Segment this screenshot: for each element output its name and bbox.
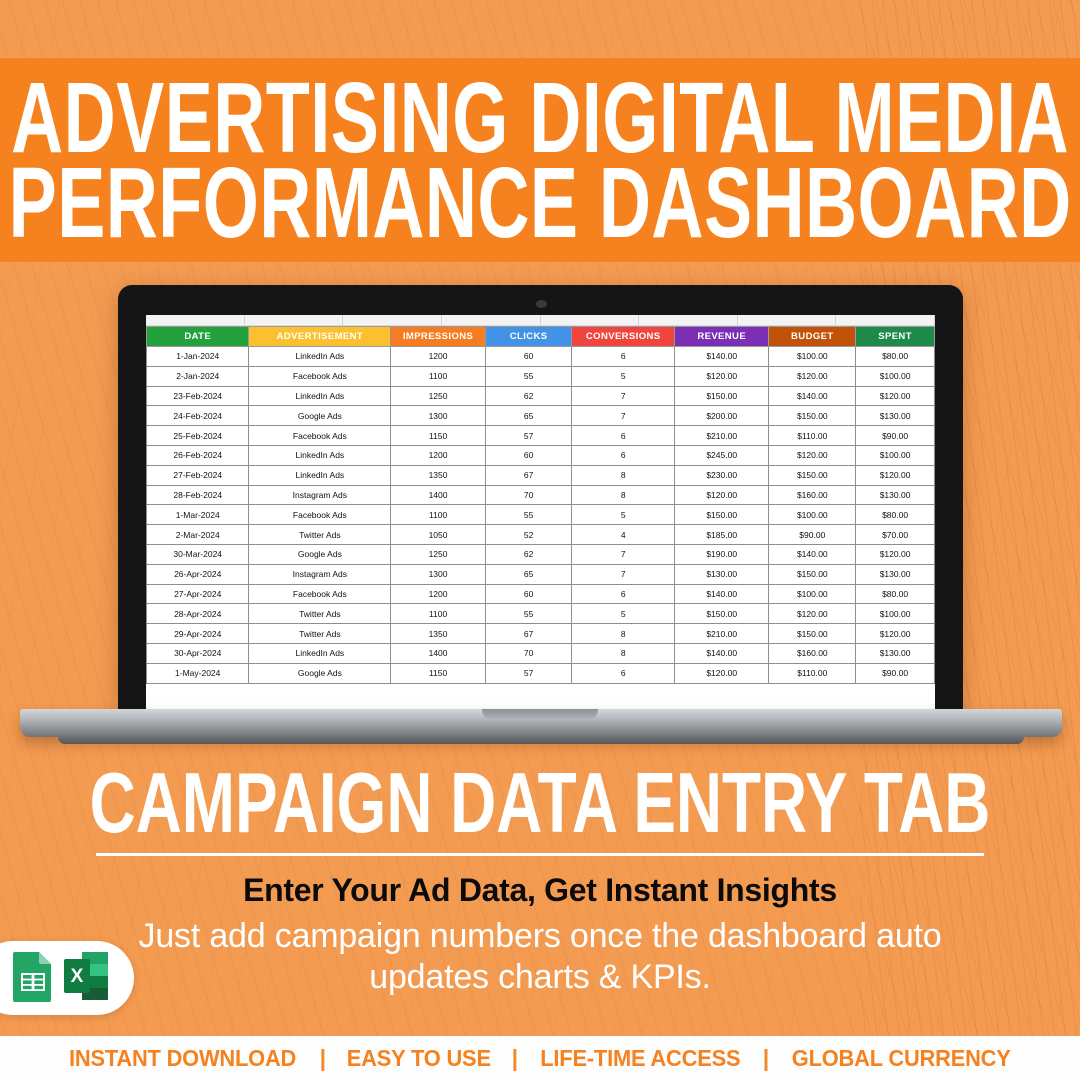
table-row[interactable]: 2-Jan-2024Facebook Ads1100555$120.00$120… [147,366,935,386]
table-cell[interactable]: 67 [485,624,572,644]
table-cell[interactable]: 6 [572,347,674,367]
table-cell[interactable]: $160.00 [769,643,856,663]
footer-item-global-currency: GLOBAL CURRENCY [792,1045,1011,1072]
table-cell[interactable]: 7 [572,406,674,426]
table-cell[interactable]: LinkedIn Ads [249,386,391,406]
google-sheets-icon [11,950,55,1007]
table-cell[interactable]: $120.00 [856,624,935,644]
sheet-col-g [738,315,837,325]
table-header-row: DATEADVERTISEMENTIMPRESSIONSCLICKSCONVER… [147,327,935,347]
table-cell[interactable]: LinkedIn Ads [249,643,391,663]
table-cell[interactable]: 1400 [391,485,486,505]
table-cell[interactable]: 67 [485,465,572,485]
footer-item-easy-to-use: EASY TO USE [347,1045,491,1072]
table-cell[interactable]: $100.00 [856,445,935,465]
laptop-foot [58,737,1024,744]
table-header-impressions[interactable]: IMPRESSIONS [391,327,486,347]
table-cell[interactable]: 55 [485,366,572,386]
table-cell[interactable]: $245.00 [674,445,769,465]
webcam-icon [536,300,547,308]
table-cell[interactable]: $150.00 [769,406,856,426]
table-cell[interactable]: 1300 [391,406,486,426]
table-cell[interactable]: Facebook Ads [249,366,391,386]
sheet-col-f [639,315,738,325]
table-cell[interactable]: $100.00 [856,366,935,386]
table-cell[interactable]: 26-Feb-2024 [147,445,249,465]
table-cell[interactable]: 1100 [391,366,486,386]
table-cell[interactable]: $120.00 [856,465,935,485]
svg-text:X: X [71,966,84,987]
table-cell[interactable]: 62 [485,544,572,564]
table-cell[interactable]: 23-Feb-2024 [147,386,249,406]
table-cell[interactable]: 65 [485,564,572,584]
table-cell[interactable]: 1200 [391,584,486,604]
table-cell[interactable]: 8 [572,465,674,485]
table-row[interactable]: 1-Mar-2024Facebook Ads1100555$150.00$100… [147,505,935,525]
table-row[interactable]: 28-Apr-2024Twitter Ads1100555$150.00$120… [147,604,935,624]
table-cell[interactable]: $90.00 [856,426,935,446]
table-header-spent[interactable]: SPENT [856,327,935,347]
table-body[interactable]: 1-Jan-2024LinkedIn Ads1200606$140.00$100… [147,347,935,684]
table-cell[interactable]: 62 [485,386,572,406]
table-cell[interactable]: $80.00 [856,584,935,604]
table-cell[interactable]: $140.00 [674,347,769,367]
table-row[interactable]: 28-Feb-2024Instagram Ads1400708$120.00$1… [147,485,935,505]
table-cell[interactable]: 6 [572,426,674,446]
table-row[interactable]: 1-May-2024Google Ads1150576$120.00$110.0… [147,663,935,683]
table-cell[interactable]: 1250 [391,544,486,564]
table-cell[interactable]: 30-Apr-2024 [147,643,249,663]
table-row[interactable]: 27-Feb-2024LinkedIn Ads1350678$230.00$15… [147,465,935,485]
table-cell[interactable]: $110.00 [769,426,856,446]
table-cell[interactable]: 8 [572,485,674,505]
table-cell[interactable]: $150.00 [769,564,856,584]
table-cell[interactable]: LinkedIn Ads [249,465,391,485]
table-cell[interactable]: Facebook Ads [249,584,391,604]
table-cell[interactable]: 1150 [391,663,486,683]
table-cell[interactable]: 1300 [391,564,486,584]
table-row[interactable]: 30-Apr-2024LinkedIn Ads1400708$140.00$16… [147,643,935,663]
table-cell[interactable]: 24-Feb-2024 [147,406,249,426]
table-cell[interactable]: 4 [572,525,674,545]
table-row[interactable]: 26-Apr-2024Instagram Ads1300657$130.00$1… [147,564,935,584]
table-cell[interactable]: $150.00 [674,604,769,624]
table-cell[interactable]: $150.00 [769,465,856,485]
table-cell[interactable]: 25-Feb-2024 [147,426,249,446]
table-cell[interactable]: Google Ads [249,544,391,564]
table-header-advertisement[interactable]: ADVERTISEMENT [249,327,391,347]
body-copy-line-2: updates charts & KPIs. [64,957,1016,998]
table-cell[interactable]: $100.00 [856,604,935,624]
table-cell[interactable]: 6 [572,584,674,604]
table-cell[interactable]: 1-Mar-2024 [147,505,249,525]
table-cell[interactable]: Twitter Ads [249,525,391,545]
footer-separator: | [320,1045,326,1072]
table-cell[interactable]: 70 [485,643,572,663]
table-cell[interactable]: Instagram Ads [249,564,391,584]
sheet-col-e [541,315,640,325]
sheet-col-h [836,315,935,325]
spreadsheet-viewport: DATEADVERTISEMENTIMPRESSIONSCLICKSCONVER… [146,315,935,710]
table-row[interactable]: 29-Apr-2024Twitter Ads1350678$210.00$150… [147,624,935,644]
table-cell[interactable]: 55 [485,604,572,624]
table-cell[interactable]: Twitter Ads [249,604,391,624]
table-header-revenue[interactable]: REVENUE [674,327,769,347]
table-cell[interactable]: 1050 [391,525,486,545]
spreadsheet-column-header-strip[interactable] [146,315,935,326]
table-cell[interactable]: 5 [572,366,674,386]
table-row[interactable]: 26-Feb-2024LinkedIn Ads1200606$245.00$12… [147,445,935,465]
campaign-data-table[interactable]: DATEADVERTISEMENTIMPRESSIONSCLICKSCONVER… [146,326,935,684]
table-cell[interactable]: $90.00 [769,525,856,545]
table-header-date[interactable]: DATE [147,327,249,347]
table-cell[interactable]: 1400 [391,643,486,663]
body-copy-line-1: Just add campaign numbers once the dashb… [64,916,1016,957]
table-cell[interactable]: 1150 [391,426,486,446]
laptop-notch [482,709,598,719]
table-row[interactable]: 2-Mar-2024Twitter Ads1050524$185.00$90.0… [147,525,935,545]
sheet-col-a [146,315,245,325]
table-cell[interactable]: $120.00 [769,366,856,386]
table-cell[interactable]: Twitter Ads [249,624,391,644]
table-cell[interactable]: $140.00 [769,386,856,406]
lower-copy-block: CAMPAIGN DATA ENTRY TAB Enter Your Ad Da… [0,766,1080,999]
table-cell[interactable]: Google Ads [249,406,391,426]
compatibility-logo-pill: X [0,941,134,1015]
table-cell[interactable]: $210.00 [674,624,769,644]
table-cell[interactable]: $230.00 [674,465,769,485]
table-row[interactable]: 24-Feb-2024Google Ads1300657$200.00$150.… [147,406,935,426]
table-cell[interactable]: LinkedIn Ads [249,445,391,465]
table-cell[interactable]: $130.00 [856,564,935,584]
footer-separator: | [763,1045,769,1072]
hero-title-line-2: PERFORMANCE DASHBOARD [9,154,1072,251]
table-cell[interactable]: $120.00 [674,663,769,683]
table-cell[interactable]: $200.00 [674,406,769,426]
table-cell[interactable]: 1100 [391,604,486,624]
table-cell[interactable]: 60 [485,445,572,465]
table-cell[interactable]: 1350 [391,624,486,644]
table-cell[interactable]: 7 [572,544,674,564]
table-cell[interactable]: $160.00 [769,485,856,505]
table-cell[interactable]: 8 [572,643,674,663]
table-cell[interactable]: Google Ads [249,663,391,683]
table-cell[interactable]: Facebook Ads [249,505,391,525]
table-cell[interactable]: $130.00 [856,643,935,663]
table-cell[interactable]: $80.00 [856,347,935,367]
table-cell[interactable]: 27-Apr-2024 [147,584,249,604]
table-cell[interactable]: 28-Feb-2024 [147,485,249,505]
table-cell[interactable]: 7 [572,386,674,406]
microsoft-excel-icon: X [62,950,110,1007]
footer-item-instant-download: INSTANT DOWNLOAD [69,1045,296,1072]
table-cell[interactable]: $120.00 [769,445,856,465]
table-cell[interactable]: LinkedIn Ads [249,347,391,367]
table-cell[interactable]: 1200 [391,347,486,367]
table-cell[interactable]: $100.00 [769,584,856,604]
table-cell[interactable]: 1-May-2024 [147,663,249,683]
table-cell[interactable]: Instagram Ads [249,485,391,505]
table-cell[interactable]: $70.00 [856,525,935,545]
section-body-copy: Just add campaign numbers once the dashb… [0,916,1080,999]
table-row[interactable]: 27-Apr-2024Facebook Ads1200606$140.00$10… [147,584,935,604]
table-cell[interactable]: 1350 [391,465,486,485]
table-cell[interactable]: $120.00 [674,366,769,386]
section-subhead: Enter Your Ad Data, Get Instant Insights [0,872,1080,909]
footer-feature-bar: INSTANT DOWNLOAD|EASY TO USE|LIFE-TIME A… [0,1036,1080,1080]
table-cell[interactable]: $120.00 [856,544,935,564]
table-cell[interactable]: 26-Apr-2024 [147,564,249,584]
table-cell[interactable]: 6 [572,663,674,683]
table-cell[interactable]: $120.00 [674,485,769,505]
table-cell[interactable]: 65 [485,406,572,426]
table-cell[interactable]: $190.00 [674,544,769,564]
table-cell[interactable]: 52 [485,525,572,545]
table-cell[interactable]: $140.00 [674,584,769,604]
table-row[interactable]: 25-Feb-2024Facebook Ads1150576$210.00$11… [147,426,935,446]
table-cell[interactable]: 2-Jan-2024 [147,366,249,386]
table-header-conversions[interactable]: CONVERSIONS [572,327,674,347]
table-cell[interactable]: 5 [572,505,674,525]
table-cell[interactable]: $130.00 [856,485,935,505]
table-cell[interactable]: 1200 [391,445,486,465]
footer-item-life-time-access: LIFE-TIME ACCESS [540,1045,740,1072]
table-cell[interactable]: $150.00 [674,505,769,525]
section-headline: CAMPAIGN DATA ENTRY TAB [86,761,993,846]
hero-title-band: ADVERTISING DIGITAL MEDIA PERFORMANCE DA… [0,58,1080,262]
table-cell[interactable]: $140.00 [769,544,856,564]
table-cell[interactable]: 57 [485,663,572,683]
footer-separator: | [512,1045,518,1072]
table-cell[interactable]: $120.00 [769,604,856,624]
table-cell[interactable]: 28-Apr-2024 [147,604,249,624]
table-cell[interactable]: 60 [485,584,572,604]
table-cell[interactable]: $110.00 [769,663,856,683]
table-cell[interactable]: $140.00 [674,643,769,663]
table-cell[interactable]: 70 [485,485,572,505]
table-cell[interactable]: 5 [572,604,674,624]
table-cell[interactable]: 6 [572,445,674,465]
table-cell[interactable]: $150.00 [769,624,856,644]
table-cell[interactable]: 29-Apr-2024 [147,624,249,644]
table-cell[interactable]: 55 [485,505,572,525]
sheet-col-d [442,315,541,325]
table-cell[interactable]: $210.00 [674,426,769,446]
laptop-mockup: DATEADVERTISEMENTIMPRESSIONSCLICKSCONVER… [0,285,1080,755]
table-cell[interactable]: $80.00 [856,505,935,525]
laptop-screen-bezel: DATEADVERTISEMENTIMPRESSIONSCLICKSCONVER… [118,285,963,713]
table-cell[interactable]: 8 [572,624,674,644]
table-cell[interactable]: $130.00 [856,406,935,426]
headline-underline [96,853,984,856]
table-row[interactable]: 1-Jan-2024LinkedIn Ads1200606$140.00$100… [147,347,935,367]
table-cell[interactable]: $130.00 [674,564,769,584]
table-header-budget[interactable]: BUDGET [769,327,856,347]
table-cell[interactable]: 60 [485,347,572,367]
table-cell[interactable]: $120.00 [856,386,935,406]
table-cell[interactable]: 7 [572,564,674,584]
table-row[interactable]: 23-Feb-2024LinkedIn Ads1250627$150.00$14… [147,386,935,406]
sheet-col-b [245,315,344,325]
table-cell[interactable]: 2-Mar-2024 [147,525,249,545]
table-header-clicks[interactable]: CLICKS [485,327,572,347]
table-cell[interactable]: 27-Feb-2024 [147,465,249,485]
sheet-col-c [343,315,442,325]
table-row[interactable]: 30-Mar-2024Google Ads1250627$190.00$140.… [147,544,935,564]
table-cell[interactable]: Facebook Ads [249,426,391,446]
table-cell[interactable]: 1250 [391,386,486,406]
table-cell[interactable]: 30-Mar-2024 [147,544,249,564]
table-cell[interactable]: $90.00 [856,663,935,683]
table-cell[interactable]: 1100 [391,505,486,525]
table-cell[interactable]: 57 [485,426,572,446]
table-cell[interactable]: $100.00 [769,505,856,525]
table-cell[interactable]: $150.00 [674,386,769,406]
table-cell[interactable]: $185.00 [674,525,769,545]
table-cell[interactable]: $100.00 [769,347,856,367]
table-cell[interactable]: 1-Jan-2024 [147,347,249,367]
